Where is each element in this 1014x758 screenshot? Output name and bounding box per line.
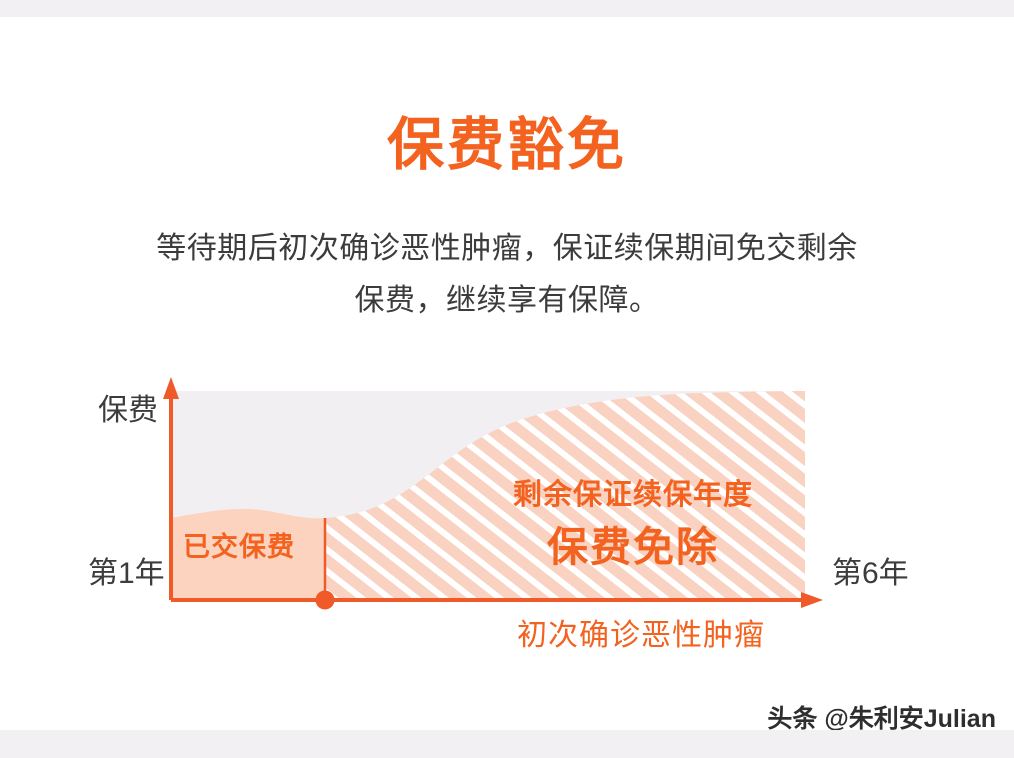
arrow-right-icon [801,592,823,608]
arrow-up-icon [163,377,179,399]
event-marker-label: 初次确诊恶性肿瘤 [134,617,1014,655]
y-axis-label: 保费 [98,393,158,429]
page-title: 保费豁免 [0,110,1014,180]
page-top-strip [0,0,1014,17]
waived-premium-label: 保费免除 [126,522,1014,572]
waived-period-label: 剩余保证续保年度 [126,477,1014,513]
page-subtitle-line-1: 等待期后初次确诊恶性肿瘤，保证续保期间免交剩余 [92,223,922,275]
event-dot-icon [316,591,335,610]
page-bottom-strip [0,730,1014,758]
page-subtitle: 等待期后初次确诊恶性肿瘤，保证续保期间免交剩余 保费，继续享有保障。 [92,223,922,327]
page-subtitle-line-2: 保费，继续享有保障。 [92,275,922,327]
